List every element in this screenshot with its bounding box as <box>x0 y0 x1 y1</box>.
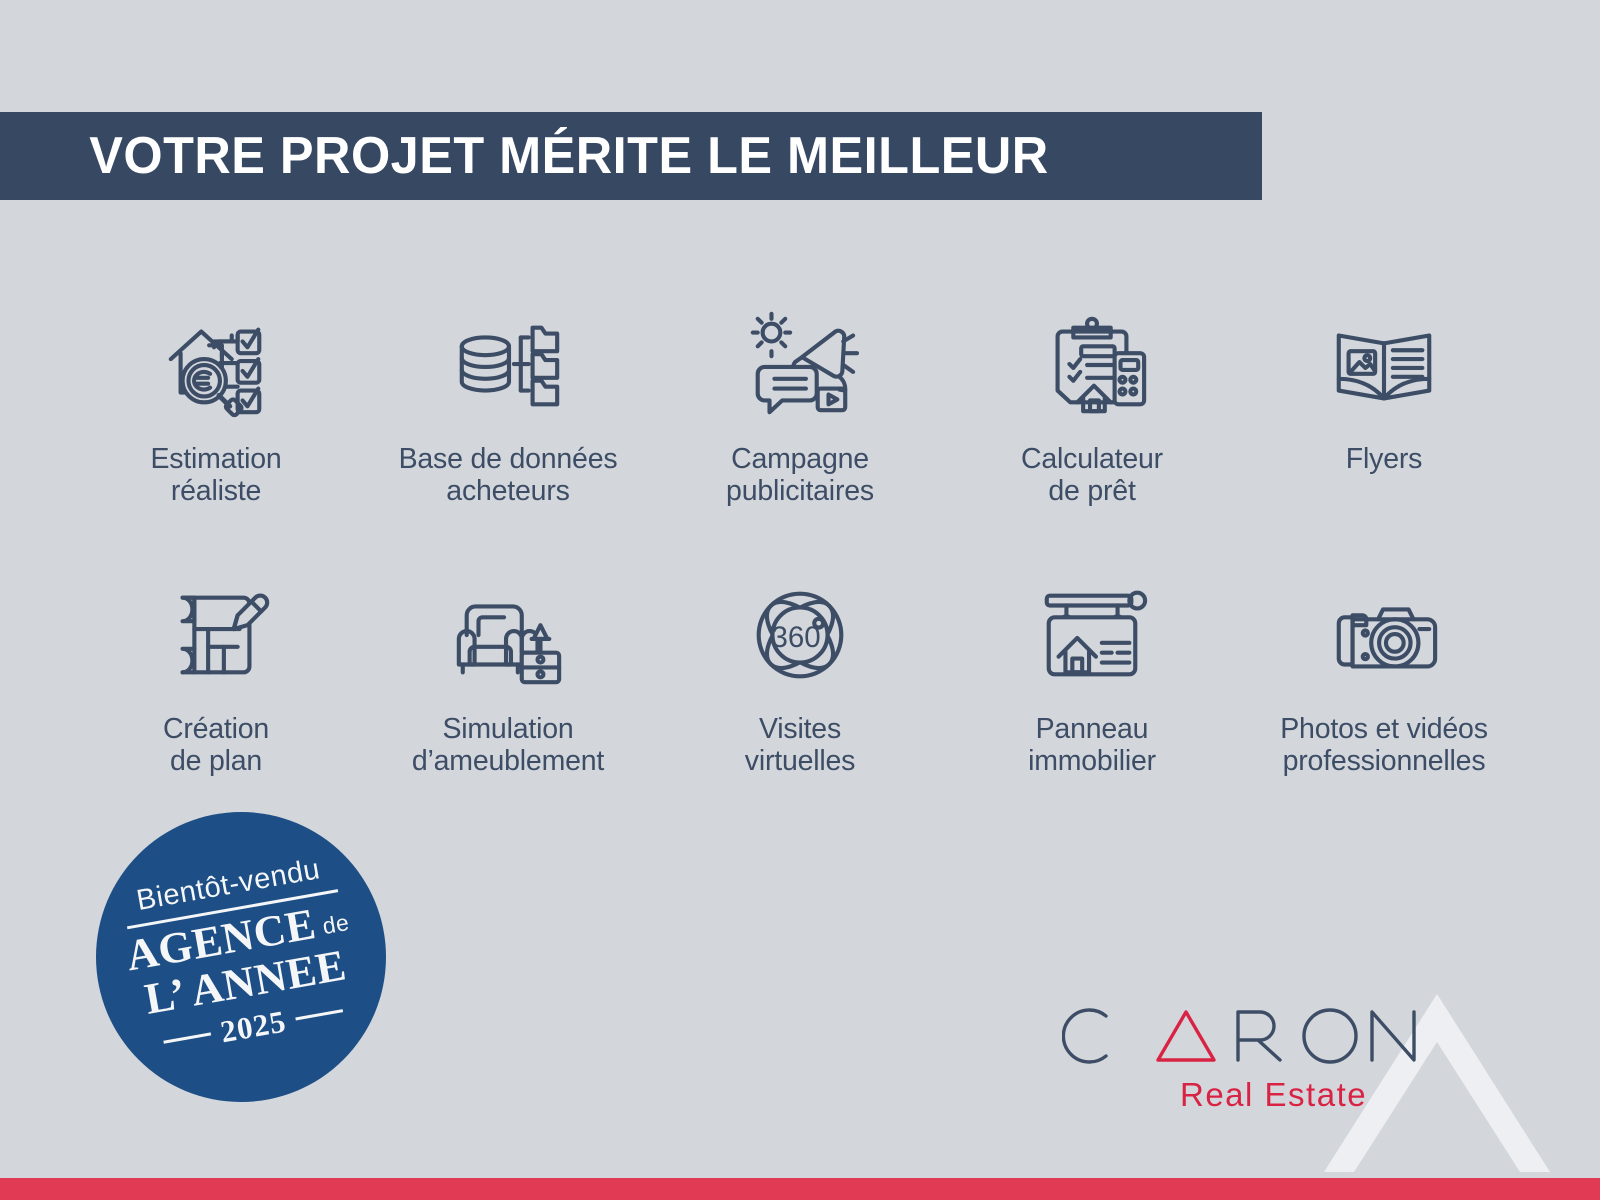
bottom-accent-stripe <box>0 1178 1600 1200</box>
brand-logo: Real Estate <box>1062 1000 1462 1120</box>
page-title: VOTRE PROJET MÉRITE LE MEILLEUR <box>0 126 1049 186</box>
hanging-property-sign-icon <box>1027 570 1157 700</box>
dslr-camera-icon <box>1319 570 1449 700</box>
feature-item[interactable]: Simulation d’ameublement <box>362 570 654 778</box>
badge-year: 2025 <box>218 1003 289 1050</box>
badge-year-rule-right <box>295 1009 343 1020</box>
feature-label: Campagne publicitaires <box>726 444 874 508</box>
brand-wordmark <box>1062 1000 1452 1072</box>
award-badge-content: Bientôt-vendu AGENCE de L’ ANNEE 2025 <box>96 812 386 1102</box>
badge-year-rule-left <box>163 1033 211 1044</box>
feature-item[interactable]: Estimation réaliste <box>70 300 362 508</box>
feature-item[interactable]: Campagne publicitaires <box>654 300 946 508</box>
megaphone-campaign-icon <box>735 300 865 430</box>
feature-item[interactable]: Flyers <box>1238 300 1530 508</box>
brand-tagline: Real Estate <box>1180 1076 1367 1114</box>
feature-item[interactable]: Base de données acheteurs <box>362 300 654 508</box>
feature-label: Visites virtuelles <box>745 714 855 778</box>
feature-item[interactable]: 360 Visites virtuelles <box>654 570 946 778</box>
feature-label: Création de plan <box>163 714 269 778</box>
feature-item[interactable]: Création de plan <box>70 570 362 778</box>
header-banner: VOTRE PROJET MÉRITE LE MEILLEUR <box>0 112 1262 200</box>
feature-label: Estimation réaliste <box>150 444 281 508</box>
feature-item[interactable]: Photos et vidéos professionnelles <box>1238 570 1530 778</box>
feature-item[interactable]: Panneau immobilier <box>946 570 1238 778</box>
award-badge: Bientôt-vendu AGENCE de L’ ANNEE 2025 <box>96 812 386 1102</box>
feature-label: Simulation d’ameublement <box>412 714 604 778</box>
feature-item[interactable]: Calculateur de prêt <box>946 300 1238 508</box>
feature-label: Calculateur de prêt <box>1021 444 1163 508</box>
database-folders-icon <box>443 300 573 430</box>
feature-label: Panneau immobilier <box>1028 714 1156 778</box>
feature-grid: Estimation réaliste Base de données ache… <box>70 300 1530 778</box>
clipboard-calculator-icon <box>1027 300 1157 430</box>
feature-label: Flyers <box>1346 444 1422 476</box>
blueprint-pencil-icon <box>151 570 281 700</box>
open-brochure-icon <box>1319 300 1449 430</box>
badge-de-text: de <box>321 910 352 943</box>
feature-label: Base de données acheteurs <box>399 444 618 508</box>
house-euro-checklist-icon <box>151 300 281 430</box>
caron-letters-icon <box>1062 1000 1452 1072</box>
globe-360-icon: 360 <box>735 570 865 700</box>
feature-label: Photos et vidéos professionnelles <box>1280 714 1488 778</box>
sofa-lamp-icon <box>443 570 573 700</box>
